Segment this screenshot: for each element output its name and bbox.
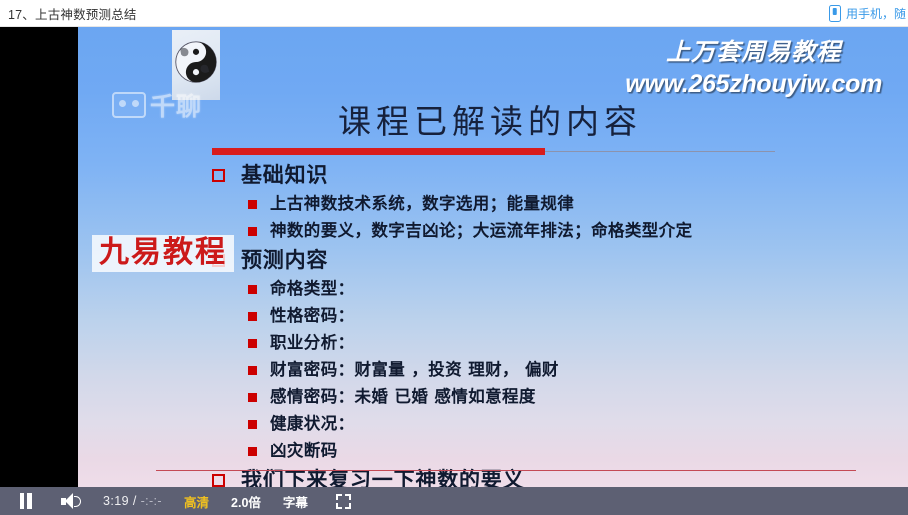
course-brand-watermark: 九易教程 [92,235,234,272]
list-item: 基础知识 [212,161,892,189]
bullet-square-filled-icon [248,447,257,456]
list-item: 命格类型： [212,276,892,301]
mobile-promo[interactable]: 用手机，随 [829,5,908,22]
bullet-square-filled-icon [248,312,257,321]
title-divider-grey [545,151,775,153]
bullet-text: 命格类型： [270,276,355,301]
time-separator: / [133,494,137,508]
bullet-square-hollow-icon [212,169,225,182]
playback-speed-button[interactable]: 2.0倍 [231,492,261,511]
list-item: 上古神数技术系统，数字选用；能量规律 [212,191,892,216]
qianliao-logo-label: 千聊 [150,87,202,123]
page-header: 17、上古神数预测总结 用手机，随 [0,0,908,27]
fullscreen-icon[interactable] [336,494,351,509]
bullet-square-filled-icon [248,339,257,348]
time-display: 3:19 / -:-:- [103,494,162,508]
subtitle-button[interactable]: 字幕 [283,492,308,511]
total-time: -:-:- [141,494,162,508]
bullet-square-filled-icon [248,200,257,209]
bullet-text: 凶灾断码 [270,438,338,463]
site-watermark: 上万套周易教程 www.265zhouyiw.com [625,32,882,99]
bullet-text: 职业分析： [270,330,355,355]
video-control-bar: 3:19 / -:-:- 高清 2.0倍 字幕 [0,487,908,515]
bullet-text: 上古神数技术系统，数字选用；能量规律 [270,191,574,216]
letterbox-left [0,27,78,487]
bullet-text: 神数的要义，数字吉凶论；大运流年排法；命格类型介定 [270,218,693,243]
list-item: 性格密码： [212,303,892,328]
bullet-square-filled-icon [248,227,257,236]
list-item: 健康状况： [212,411,892,436]
list-item: 凶灾断码 [212,438,892,463]
watermark-url: www.265zhouyiw.com [625,70,882,99]
bullet-square-filled-icon [248,366,257,375]
mobile-promo-label: 用手机，随 [846,5,906,22]
bullet-square-filled-icon [248,285,257,294]
list-item: 预测内容 [212,246,892,274]
slide-title: 课程已解读的内容 [338,95,642,143]
volume-speaker-cone [65,493,73,509]
pause-icon[interactable] [18,493,34,509]
bullet-text: 性格密码： [270,303,355,328]
bullet-square-filled-icon [248,393,257,402]
list-item: 感情密码：未婚 已婚 感情如意程度 [212,384,892,409]
bullet-text: 健康状况： [270,411,355,436]
bullet-text: 预测内容 [241,246,328,274]
volume-wave [74,496,81,507]
bottom-divider [156,470,856,471]
title-divider-red [212,148,545,155]
bullet-text: 基础知识 [241,161,328,189]
list-item: 神数的要义，数字吉凶论；大运流年排法；命格类型介定 [212,218,892,243]
bullet-text: 财富密码：财富量 ，投资 理财， 偏财 [270,357,559,382]
quality-button[interactable]: 高清 [184,492,209,511]
current-time: 3:19 [103,494,129,508]
course-brand-label: 九易教程 [99,236,227,269]
list-item: 财富密码：财富量 ，投资 理财， 偏财 [212,357,892,382]
qianliao-logo-watermark: 千聊 [112,87,202,123]
video-viewport[interactable]: 千聊 上万套周易教程 www.265zhouyiw.com 九易教程 课程已解读… [0,27,908,487]
qianliao-mark-icon [112,92,146,118]
slide-bullet-list: 基础知识 上古神数技术系统，数字选用；能量规律 神数的要义，数字吉凶论；大运流年… [212,158,892,487]
video-player-page: 17、上古神数预测总结 用手机，随 千聊 [0,0,908,515]
bullet-square-hollow-icon [212,474,225,487]
bullet-square-filled-icon [248,420,257,429]
volume-icon[interactable] [61,493,81,510]
bullet-text: 感情密码：未婚 已婚 感情如意程度 [270,384,536,409]
list-item: 职业分析： [212,330,892,355]
slide-canvas: 千聊 上万套周易教程 www.265zhouyiw.com 九易教程 课程已解读… [78,27,908,487]
phone-icon [829,5,841,22]
page-title: 17、上古神数预测总结 [0,4,137,23]
watermark-tagline: 上万套周易教程 [625,32,882,67]
